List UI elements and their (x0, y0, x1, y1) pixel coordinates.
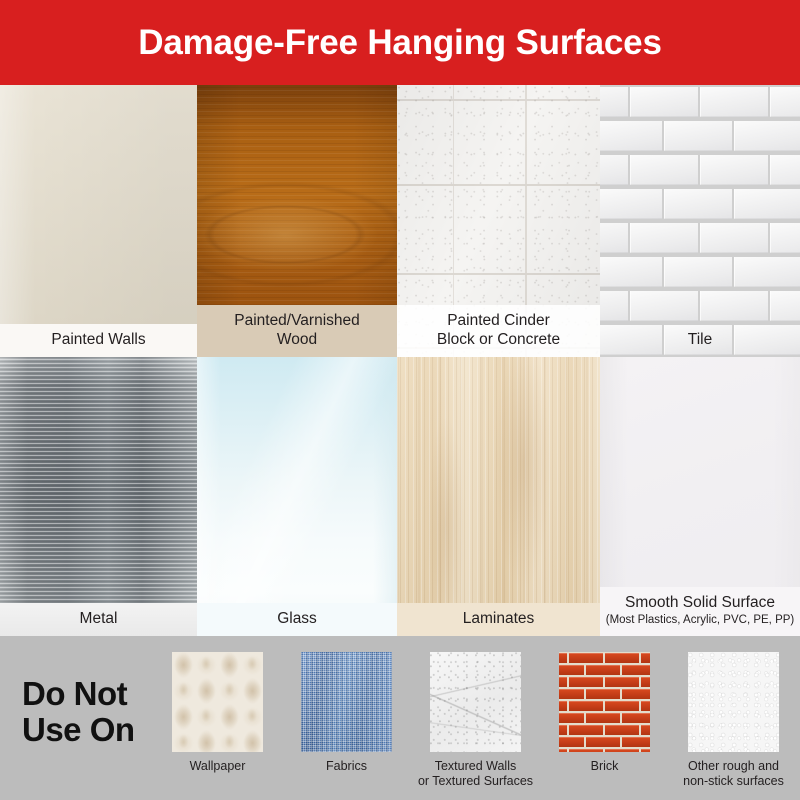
subway-tile (600, 291, 628, 321)
brick-row (559, 688, 650, 700)
fabric-weave-texture (301, 652, 392, 752)
brick (622, 713, 650, 723)
subway-tile (700, 223, 768, 253)
subway-tile (630, 291, 698, 321)
subway-tile (700, 155, 768, 185)
brick-row (559, 748, 650, 752)
subway-tile-row (600, 289, 800, 323)
brick-row (559, 736, 650, 748)
brick (605, 749, 639, 752)
do-not-use-label-brick-main: Brick (591, 759, 619, 773)
subway-tile (600, 87, 628, 117)
do-not-use-label-textured-walls-sub: or Textured Surfaces (418, 774, 533, 788)
do-not-use-title-line1: Do Not (22, 676, 172, 712)
subway-tile (734, 257, 800, 287)
surface-cell-metal[interactable]: Metal (0, 357, 197, 636)
brick (622, 689, 650, 699)
do-not-use-section: Do Not Use On Wallpaper Fabrics Textured… (0, 636, 800, 800)
subway-tile-row (600, 153, 800, 187)
brick-row (559, 664, 650, 676)
surface-cell-smooth-solid-surface[interactable]: Smooth Solid Surface (Most Plastics, Acr… (600, 357, 800, 636)
brick (605, 653, 639, 663)
subway-tile-texture (600, 85, 800, 357)
brick-pattern (559, 652, 650, 752)
subway-tile (770, 155, 800, 185)
brick (641, 749, 650, 752)
brick (559, 653, 567, 663)
painted-wall-texture (0, 85, 197, 357)
brushed-metal-texture (0, 357, 197, 636)
do-not-use-item-brick[interactable]: Brick (542, 636, 667, 774)
subway-tile-pattern (600, 85, 800, 357)
do-not-use-label-other-rough-sub: non-stick surfaces (683, 774, 784, 788)
subway-tile-row (600, 85, 800, 119)
brick (641, 701, 650, 711)
do-not-use-title-line2: Use On (22, 712, 172, 748)
subway-tile (770, 223, 800, 253)
do-not-use-label-textured-walls: Textured Walls or Textured Surfaces (418, 759, 533, 789)
brick (559, 665, 584, 675)
brick (559, 701, 567, 711)
subway-tile (600, 223, 628, 253)
do-not-use-label-wallpaper: Wallpaper (190, 759, 246, 774)
do-not-use-item-textured-walls[interactable]: Textured Walls or Textured Surfaces (413, 636, 538, 789)
rough-stucco-texture (688, 652, 779, 752)
surface-cell-glass[interactable]: Glass (197, 357, 397, 636)
brick (559, 689, 584, 699)
brick (569, 701, 603, 711)
subway-tile-row (600, 187, 800, 221)
brick (605, 677, 639, 687)
surface-cell-laminates[interactable]: Laminates (397, 357, 600, 636)
subway-tile (700, 291, 768, 321)
brick (559, 725, 567, 735)
brick-row (559, 676, 650, 688)
do-not-use-item-fabrics[interactable]: Fabrics (284, 636, 409, 774)
surface-cell-painted-varnished-wood[interactable]: Painted/VarnishedWood (197, 85, 397, 357)
surface-label-painted-cinder-block: Painted CinderBlock or Concrete (397, 305, 600, 357)
laminate-wood-texture (397, 357, 600, 636)
subway-tile (600, 189, 662, 219)
brick-wall-texture (559, 652, 650, 752)
subway-tile (600, 155, 628, 185)
surface-label-smooth-solid-surface: Smooth Solid Surface (Most Plastics, Acr… (600, 587, 800, 636)
subway-tile-row (600, 119, 800, 153)
brick (605, 701, 639, 711)
subway-tile (600, 257, 662, 287)
surface-label-smooth-solid-surface-main: Smooth Solid Surface (625, 594, 775, 611)
brick (559, 737, 584, 747)
brick (605, 725, 639, 735)
brick (586, 737, 620, 747)
brick (641, 677, 650, 687)
do-not-use-items: Wallpaper Fabrics Textured Walls or Text… (155, 636, 800, 800)
infographic-page: Damage-Free Hanging Surfaces Painted Wal… (0, 0, 800, 800)
subway-tile (630, 87, 698, 117)
brick (559, 749, 567, 752)
brick (622, 737, 650, 747)
surface-label-glass: Glass (197, 603, 397, 636)
surface-label-painted-varnished-wood: Painted/VarnishedWood (197, 305, 397, 357)
subway-tile (600, 121, 662, 151)
do-not-use-label-fabrics: Fabrics (326, 759, 367, 774)
page-title: Damage-Free Hanging Surfaces (138, 23, 661, 63)
do-not-use-label-brick: Brick (591, 759, 619, 774)
surface-label-painted-walls: Painted Walls (0, 324, 197, 357)
header-banner: Damage-Free Hanging Surfaces (0, 0, 800, 85)
brick (586, 665, 620, 675)
subway-tile (664, 121, 732, 151)
textured-wall-texture (430, 652, 521, 752)
subway-tile (734, 121, 800, 151)
brick (622, 665, 650, 675)
do-not-use-label-other-rough-main: Other rough and (688, 759, 779, 773)
subway-tile (630, 223, 698, 253)
brick (586, 689, 620, 699)
do-not-use-item-other-rough[interactable]: Other rough and non-stick surfaces (671, 636, 796, 789)
subway-tile (734, 189, 800, 219)
do-not-use-label-other-rough: Other rough and non-stick surfaces (683, 759, 784, 789)
brick (641, 653, 650, 663)
surface-label-tile: Tile (600, 324, 800, 357)
brick (569, 677, 603, 687)
subway-tile (664, 189, 732, 219)
do-not-use-label-wallpaper-main: Wallpaper (190, 759, 246, 773)
approved-surfaces-row-1: Painted Walls Painted/VarnishedWood Pain… (0, 85, 800, 357)
do-not-use-label-fabrics-main: Fabrics (326, 759, 367, 773)
subway-tile-row (600, 221, 800, 255)
brick-row (559, 724, 650, 736)
subway-tile (770, 291, 800, 321)
surface-cell-tile[interactable]: Tile (600, 85, 800, 357)
subway-tile (664, 257, 732, 287)
surface-label-laminates: Laminates (397, 603, 600, 636)
brick (569, 725, 603, 735)
brick (559, 677, 567, 687)
brick (641, 725, 650, 735)
brick-row (559, 652, 650, 664)
brick-row (559, 712, 650, 724)
do-not-use-label-textured-walls-main: Textured Walls (435, 759, 517, 773)
brick (569, 749, 603, 752)
surface-cell-painted-cinder-block[interactable]: Painted CinderBlock or Concrete (397, 85, 600, 357)
subway-tile (700, 87, 768, 117)
approved-surfaces-row-2: Metal Glass Laminates Smooth Solid Surfa… (0, 357, 800, 636)
brick (569, 653, 603, 663)
surface-cell-painted-walls[interactable]: Painted Walls (0, 85, 197, 357)
subway-tile (770, 87, 800, 117)
surface-label-metal: Metal (0, 603, 197, 636)
brick (586, 713, 620, 723)
subway-tile-row (600, 255, 800, 289)
subway-tile (630, 155, 698, 185)
glass-texture (197, 357, 397, 636)
wallpaper-damask-texture (172, 652, 263, 752)
brick (559, 713, 584, 723)
do-not-use-item-wallpaper[interactable]: Wallpaper (155, 636, 280, 774)
surface-sublabel-smooth-solid-surface: (Most Plastics, Acrylic, PVC, PE, PP) (604, 613, 796, 628)
do-not-use-title: Do Not Use On (22, 676, 172, 748)
brick-row (559, 700, 650, 712)
